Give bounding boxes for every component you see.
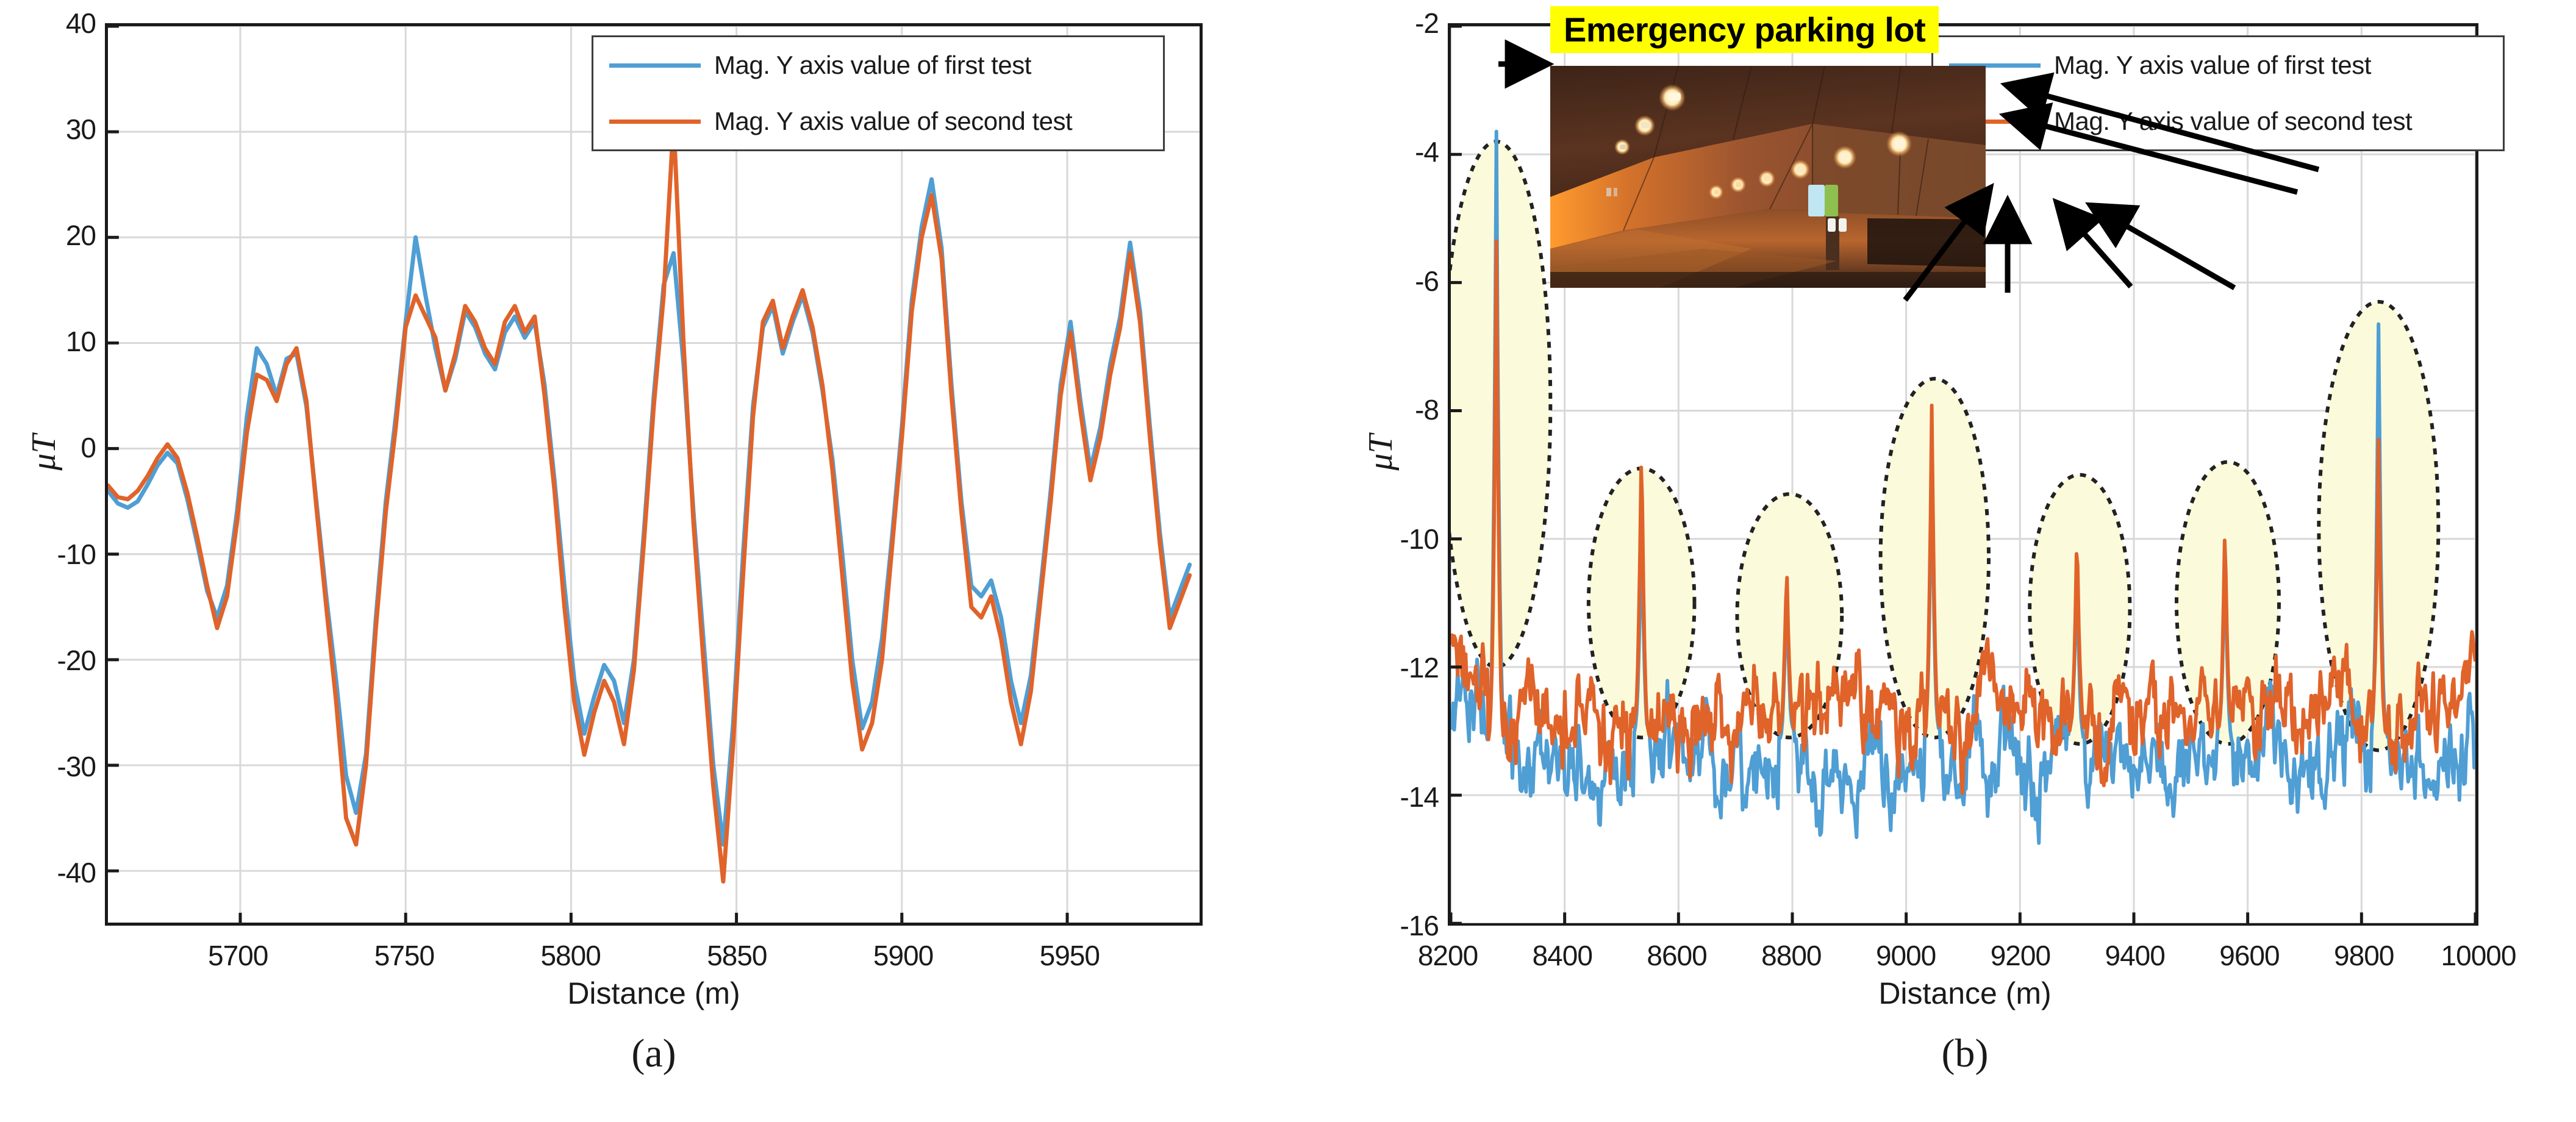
- y-axis-title-b: μT: [1361, 404, 1400, 501]
- legend-item-second-test-a: Mag. Y axis value of second test: [593, 93, 1163, 149]
- tunnel-photo-svg: [1550, 66, 1986, 288]
- x-tick-label: 9400: [2105, 939, 2164, 972]
- y-tick-label: 20: [26, 219, 96, 252]
- y-tick-label: -30: [26, 750, 96, 783]
- x-tick-label: 9600: [2219, 939, 2279, 972]
- x-tick-label: 10000: [2441, 939, 2516, 972]
- x-tick-label: 9000: [1876, 939, 1936, 972]
- figure-root: 403020100-10-20-30-40 570057505800585059…: [0, 0, 2576, 1122]
- x-tick-label: 5800: [540, 939, 600, 972]
- x-tick-label: 5750: [374, 939, 434, 972]
- x-tick-label: 9800: [2334, 939, 2394, 972]
- subfigure-caption-b: (b): [1942, 1031, 1989, 1077]
- tunnel-photo-inset: [1550, 66, 1986, 288]
- x-tick-label: 8200: [1418, 939, 1478, 972]
- y-tick-label: -12: [1365, 651, 1439, 684]
- chart-canvas-a: [108, 26, 1200, 924]
- emergency-parking-lot-callout: Emergency parking lot: [1550, 6, 1939, 53]
- legend-swatch-second-test: [609, 120, 701, 124]
- y-tick-label: -20: [26, 644, 96, 677]
- y-tick-label: -14: [1365, 781, 1439, 813]
- panel-b: -2-4-6-8-10-12-14-16 8200840086008800900…: [1288, 0, 2576, 1122]
- subfigure-caption-a: (a): [631, 1031, 676, 1077]
- x-tick-label: 5950: [1040, 939, 1100, 972]
- x-axis-title-b: Distance (m): [1878, 976, 2051, 1011]
- y-tick-label: -10: [26, 538, 96, 571]
- y-tick-label: 10: [26, 325, 96, 358]
- legend-item-first-test-a: Mag. Y axis value of first test: [593, 37, 1163, 93]
- y-axis-title-a: μT: [24, 404, 63, 501]
- y-tick-label: -4: [1365, 135, 1439, 168]
- x-tick-label: 5850: [707, 939, 767, 972]
- y-tick-label: -40: [26, 856, 96, 889]
- x-tick-label: 5700: [208, 939, 268, 972]
- legend-swatch-first-test: [609, 63, 701, 68]
- legend-label-second-test: Mag. Y axis value of second test: [2054, 107, 2412, 136]
- legend-item-first-test-b: Mag. Y axis value of first test: [1933, 37, 2503, 93]
- y-tick-label: -16: [1365, 909, 1439, 942]
- y-tick-label: 40: [26, 7, 96, 40]
- x-tick-label: 8800: [1761, 939, 1821, 972]
- legend-label-second-test: Mag. Y axis value of second test: [714, 107, 1072, 136]
- y-tick-label: -2: [1365, 7, 1439, 40]
- legend-b: Mag. Y axis value of first test Mag. Y a…: [1931, 35, 2505, 151]
- y-tick-label: -6: [1365, 265, 1439, 298]
- legend-a: Mag. Y axis value of first test Mag. Y a…: [592, 35, 1165, 151]
- x-tick-label: 9200: [1991, 939, 2050, 972]
- x-tick-label: 5900: [873, 939, 933, 972]
- legend-label-first-test: Mag. Y axis value of first test: [714, 51, 1031, 80]
- legend-label-first-test: Mag. Y axis value of first test: [2054, 51, 2371, 80]
- y-tick-label: 30: [26, 113, 96, 146]
- y-tick-label: -10: [1365, 523, 1439, 556]
- plot-area-a: [105, 23, 1203, 926]
- x-tick-label: 8400: [1533, 939, 1592, 972]
- legend-item-second-test-b: Mag. Y axis value of second test: [1933, 93, 2503, 149]
- x-tick-label: 8600: [1647, 939, 1706, 972]
- panel-a: 403020100-10-20-30-40 570057505800585059…: [0, 0, 1288, 1122]
- x-axis-title-a: Distance (m): [567, 976, 740, 1011]
